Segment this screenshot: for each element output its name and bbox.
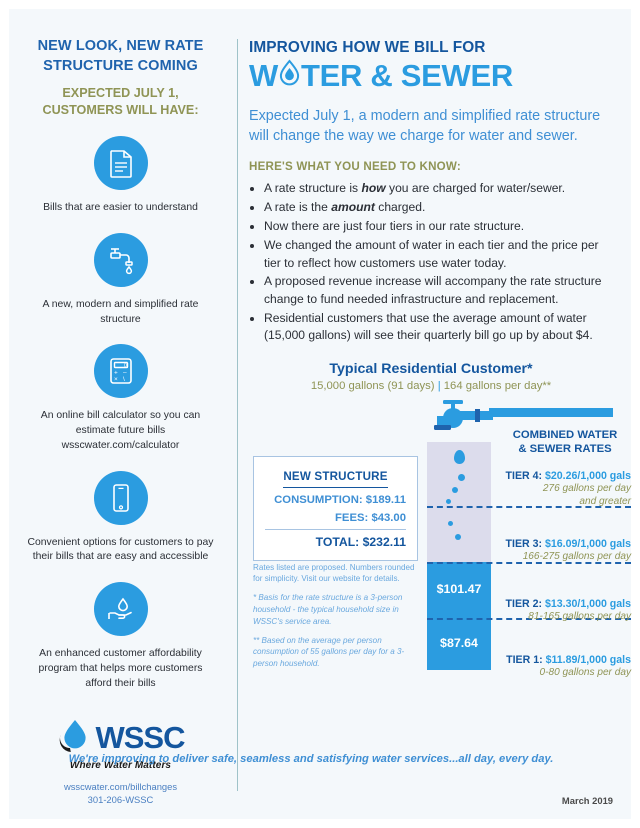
faucet-icon	[94, 233, 148, 287]
kicker-text: IMPROVING HOW WE BILL FOR	[249, 39, 613, 57]
tier-3-label: TIER 3: $16.09/1,000 gals 166-275 gallon…	[499, 538, 631, 563]
fees-row: FEES: $43.00	[265, 512, 406, 524]
wssc-website[interactable]: wsscwater.com/billchanges	[25, 780, 216, 794]
infographic-page: NEW LOOK, NEW RATE STRUCTURE COMING EXPE…	[9, 9, 631, 819]
lede-paragraph: Expected July 1, a modern and simplified…	[249, 106, 613, 147]
water-pipe	[489, 408, 613, 417]
tier-legend: COMBINED WATER & SEWER RATES TIER 4: $20…	[499, 428, 631, 457]
total-row: TOTAL: $232.11	[265, 535, 406, 549]
water-droplet	[448, 521, 453, 526]
water-droplet	[454, 450, 465, 464]
key-points-list: A rate structure is how you are charged …	[249, 180, 613, 344]
sidebar-subtitle: EXPECTED JULY 1, CUSTOMERS WILL HAVE:	[25, 85, 216, 119]
list-item: A rate structure is how you are charged …	[264, 180, 613, 197]
footer-date: March 2019	[562, 795, 613, 806]
feature-rate-structure: A new, modern and simplified rate struct…	[25, 233, 216, 328]
tier-2-label: TIER 2: $13.30/1,000 gals 81-165 gallons…	[499, 598, 631, 623]
tier-1-label: TIER 1: $11.89/1,000 gals 0-80 gallons p…	[499, 654, 631, 679]
column-divider	[237, 39, 238, 791]
list-item: Now there are just four tiers in our rat…	[264, 218, 613, 235]
feature-affordability-program: An enhanced customer affordability progr…	[25, 582, 216, 691]
new-structure-title: NEW STRUCTURE	[283, 470, 387, 488]
wssc-wordmark: WSSC	[96, 722, 185, 753]
main-content: IMPROVING HOW WE BILL FOR W TER & SEWER …	[249, 9, 631, 819]
wssc-phone[interactable]: 301-206-WSSC	[25, 793, 216, 807]
left-sidebar: NEW LOOK, NEW RATE STRUCTURE COMING EXPE…	[9, 9, 232, 819]
sidebar-title: NEW LOOK, NEW RATE STRUCTURE COMING	[25, 37, 216, 76]
new-structure-box: NEW STRUCTURE CONSUMPTION: $189.11 FEES:…	[253, 456, 418, 561]
feature-payment-options: Convenient options for customers to pay …	[25, 471, 216, 566]
tier-4-label: TIER 4: $20.26/1,000 gals 276 gallons pe…	[499, 470, 631, 508]
feature-bills-easier: Bills that are easier to understand	[25, 136, 216, 216]
list-item: Residential customers that use the avera…	[264, 310, 613, 345]
bar-amount-tier1: $87.64	[427, 636, 491, 650]
footnote-asterisk: * Basis for the rate structure is a 3-pe…	[253, 592, 423, 627]
hand-water-drop-icon	[94, 582, 148, 636]
typical-customer-subheading: 15,000 gallons (91 days) | 164 gallons p…	[249, 380, 613, 392]
combined-rates-heading: COMBINED WATER & SEWER RATES	[499, 428, 631, 457]
headline-before: W	[249, 60, 278, 93]
rate-chart: NEW STRUCTURE CONSUMPTION: $189.11 FEES:…	[249, 402, 613, 672]
footnotes: Rates listed are proposed. Numbers round…	[253, 562, 423, 678]
headline-after: TER & SEWER	[301, 60, 513, 93]
list-item: A proposed revenue increase will accompa…	[264, 273, 613, 308]
calculator-icon: 0 + – × \	[94, 344, 148, 398]
feature-bill-calculator: 0 + – × \ An online bill calculator so y…	[25, 344, 216, 453]
consumption-row: CONSUMPTION: $189.11	[265, 494, 406, 506]
water-droplet	[452, 487, 458, 493]
mobile-phone-icon	[94, 471, 148, 525]
feature-label: Convenient options for customers to pay …	[25, 536, 216, 566]
total-divider	[265, 529, 406, 530]
feature-label: An online bill calculator so you can est…	[25, 409, 216, 453]
bar-amount-tier2: $101.47	[427, 582, 491, 596]
feature-label: Bills that are easier to understand	[25, 201, 216, 216]
feature-label: A new, modern and simplified rate struct…	[25, 298, 216, 328]
svg-text:\: \	[123, 376, 125, 383]
feature-label: An enhanced customer affordability progr…	[25, 647, 216, 691]
list-item: We changed the amount of water in each t…	[264, 237, 613, 272]
footnote-double-asterisk: ** Based on the average per person consu…	[253, 635, 423, 670]
page-title: W TER & SEWER	[249, 59, 613, 94]
svg-text:0: 0	[124, 363, 127, 369]
know-heading: HERE'S WHAT YOU NEED TO KNOW:	[249, 160, 613, 173]
list-item: A rate is the amount charged.	[264, 199, 613, 216]
water-droplet	[458, 474, 465, 481]
water-drop-letter-icon	[279, 59, 300, 94]
tier-bar-stack: $101.47 $87.64	[427, 442, 491, 670]
footnote-general: Rates listed are proposed. Numbers round…	[253, 562, 423, 586]
bill-document-icon	[94, 136, 148, 190]
footer-tagline: We're improving to deliver safe, seamles…	[9, 751, 613, 767]
svg-text:×: ×	[114, 376, 118, 383]
typical-customer-heading: Typical Residential Customer*	[249, 361, 613, 377]
water-droplet	[455, 534, 461, 540]
water-droplet	[446, 499, 451, 504]
